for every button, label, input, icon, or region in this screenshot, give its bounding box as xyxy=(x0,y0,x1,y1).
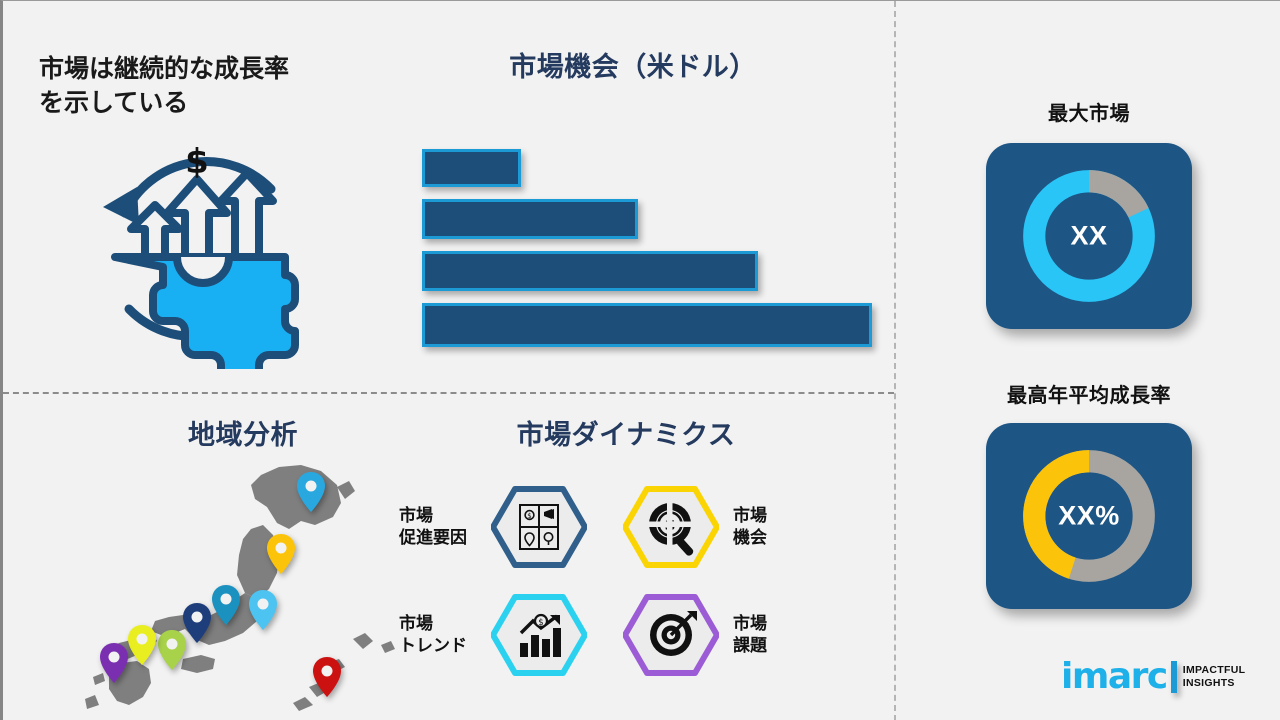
highest-cagr-card: XX% xyxy=(986,423,1192,609)
largest-market-value: XX xyxy=(986,221,1192,252)
pin-hokkaido xyxy=(296,471,326,513)
largest-market-card: XX xyxy=(986,143,1192,329)
puzzle-pieces-icon: $ xyxy=(491,483,587,571)
horizontal-divider xyxy=(3,392,894,394)
logo-divider xyxy=(1171,661,1177,693)
growth-heading-line1: 市場は継続的な成長率 xyxy=(39,53,399,87)
dynamics-row-1: 市場 促進要因 $ xyxy=(399,481,847,573)
dynamics-label-challenges: 市場 課題 xyxy=(733,613,825,657)
dynamics-item-drivers[interactable]: 市場 促進要因 $ xyxy=(399,483,623,571)
regional-panel: 地域分析 xyxy=(123,419,363,453)
bar-1 xyxy=(422,149,521,187)
dynamics-label-drivers: 市場 促進要因 xyxy=(399,505,491,549)
bar-chart xyxy=(422,149,882,354)
opportunity-panel: 市場機会（米ドル） xyxy=(423,51,843,85)
imarc-logo: imarc IMPACTFUL INSIGHTS xyxy=(1061,659,1245,695)
growth-gear-arrows-icon: $ xyxy=(75,129,325,369)
largest-market-title-wrap: 最大市場 xyxy=(989,97,1189,126)
growth-heading: 市場は継続的な成長率 を示している xyxy=(39,53,399,121)
largest-market-title: 最大市場 xyxy=(989,97,1189,126)
growth-heading-line2: を示している xyxy=(39,87,399,121)
dynamics-item-trends[interactable]: 市場 トレンド $ xyxy=(399,591,623,679)
magnifier-dollar-icon: $ xyxy=(623,483,719,571)
pin-kyushu xyxy=(99,642,129,684)
pin-okinawa xyxy=(312,656,342,698)
target-arrow-icon xyxy=(623,591,719,679)
svg-text:$: $ xyxy=(538,618,543,628)
dynamics-label-trends: 市場 トレンド xyxy=(399,613,491,657)
bar-chart-growth-icon: $ xyxy=(491,591,587,679)
logo-wordmark: imarc xyxy=(1061,659,1167,695)
opportunity-heading: 市場機会（米ドル） xyxy=(423,51,843,85)
bar-3 xyxy=(422,251,758,291)
pin-kansai xyxy=(157,629,187,671)
japan-map xyxy=(65,463,407,713)
vertical-divider xyxy=(894,1,896,720)
dynamics-grid: 市場 促進要因 $ xyxy=(399,481,847,681)
pin-chugoku xyxy=(127,624,157,666)
bar-4 xyxy=(422,303,872,347)
svg-text:$: $ xyxy=(185,142,209,182)
highest-cagr-value: XX% xyxy=(986,501,1192,532)
pin-kanto xyxy=(211,584,241,626)
dynamics-item-challenges[interactable]: 市場 課題 xyxy=(623,591,847,679)
pin-tohoku xyxy=(266,533,296,575)
dynamics-row-2: 市場 トレンド $ xyxy=(399,589,847,681)
bar-2 xyxy=(422,199,638,239)
dynamics-panel: 市場ダイナミクス xyxy=(411,419,841,453)
highest-cagr-title: 最高年平均成長率 xyxy=(959,379,1219,408)
svg-text:$: $ xyxy=(527,512,531,520)
pin-tokyo xyxy=(248,589,278,631)
growth-panel: 市場は継続的な成長率 を示している xyxy=(39,53,399,121)
regional-heading: 地域分析 xyxy=(123,419,363,453)
dynamics-item-opportunities[interactable]: $ 市場 機会 xyxy=(623,483,847,571)
dynamics-heading: 市場ダイナミクス xyxy=(411,419,841,453)
dynamics-label-opportunities: 市場 機会 xyxy=(733,505,825,549)
highest-cagr-title-wrap: 最高年平均成長率 xyxy=(959,379,1219,408)
logo-tagline: IMPACTFUL INSIGHTS xyxy=(1183,664,1246,690)
